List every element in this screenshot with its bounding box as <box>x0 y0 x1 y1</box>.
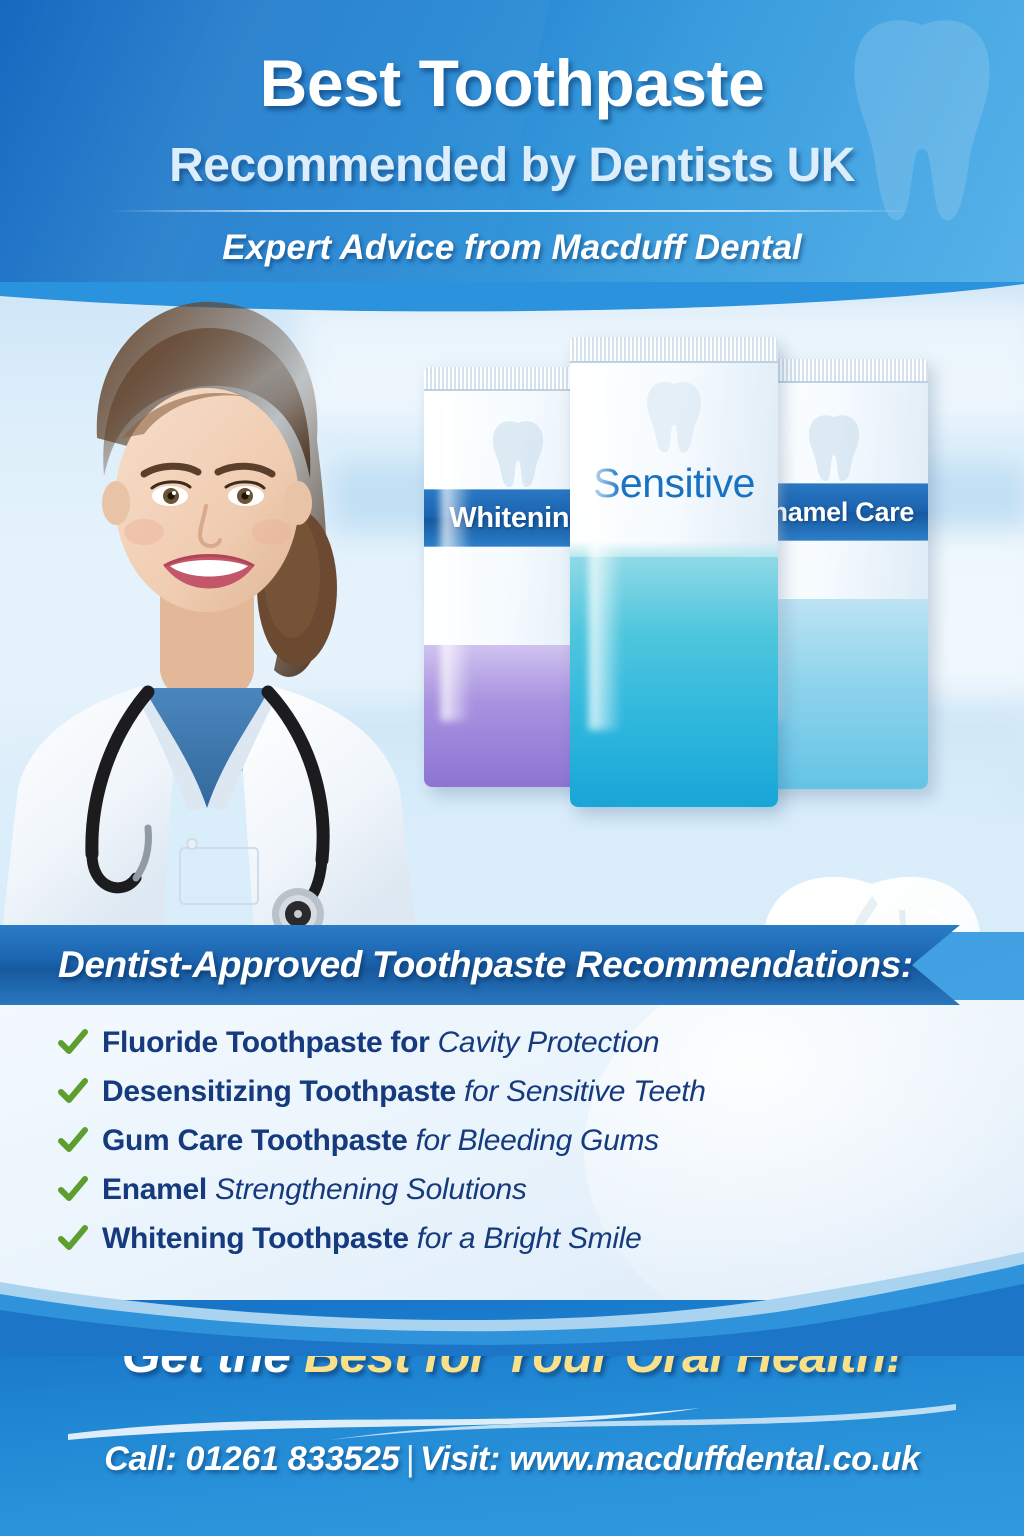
check-icon <box>58 1029 102 1057</box>
recommendations-banner: Dentist-Approved Toothpaste Recommendati… <box>0 925 960 1005</box>
tube-tooth-icon <box>644 377 704 455</box>
recommendations-list: Fluoride Toothpaste for Cavity Protectio… <box>58 1018 958 1263</box>
footer-wave-divider <box>0 1238 1024 1356</box>
list-item-rest: for Sensitive Teeth <box>456 1075 706 1108</box>
contact-separator: | <box>399 1440 420 1478</box>
list-item-rest: for Bleeding Gums <box>407 1124 658 1157</box>
header-section: Best Toothpaste Recommended by Dentists … <box>0 0 1024 292</box>
list-item-bold: Enamel <box>102 1173 207 1206</box>
list-item-bold: Fluoride Toothpaste for <box>102 1026 430 1059</box>
tube-tooth-icon <box>490 417 546 489</box>
visit-label: Visit: <box>420 1440 509 1478</box>
check-icon <box>58 1078 102 1106</box>
page-subtitle: Recommended by Dentists UK <box>0 142 1024 190</box>
molar-tooth-graphic <box>752 870 992 932</box>
dentist-photo <box>0 288 422 932</box>
toothpaste-tube-sensitive: Sensitive <box>570 337 778 807</box>
list-item-text: Fluoride Toothpaste for Cavity Protectio… <box>102 1026 659 1060</box>
poster: Best Toothpaste Recommended by Dentists … <box>0 0 1024 1536</box>
check-icon <box>58 1176 102 1204</box>
tooth-watermark-icon <box>842 6 1002 236</box>
list-item-rest: Strengthening Solutions <box>207 1173 527 1206</box>
page-title: Best Toothpaste <box>0 50 1024 116</box>
list-item-text: Gum Care Toothpaste for Bleeding Gums <box>102 1124 659 1158</box>
list-item-rest: Cavity Protection <box>430 1026 660 1059</box>
call-label: Call: <box>104 1440 185 1478</box>
list-item-text: Desensitizing Toothpaste for Sensitive T… <box>102 1075 706 1109</box>
hero-section: Whitening Sensitive <box>0 282 1024 932</box>
header-divider <box>110 210 914 212</box>
list-item-bold: Desensitizing Toothpaste <box>102 1075 456 1108</box>
toothpaste-tubes-group: Whitening Sensitive <box>410 337 970 897</box>
page-tagline: Expert Advice from Macduff Dental <box>0 228 1024 268</box>
list-item-text: Enamel Strengthening Solutions <box>102 1173 527 1207</box>
list-item: Fluoride Toothpaste for Cavity Protectio… <box>58 1018 958 1067</box>
website-url[interactable]: www.macduffdental.co.uk <box>509 1440 920 1478</box>
list-item-bold: Gum Care Toothpaste <box>102 1124 407 1157</box>
phone-number[interactable]: 01261 833525 <box>186 1440 400 1478</box>
recommendations-banner-text: Dentist-Approved Toothpaste Recommendati… <box>58 944 913 986</box>
tube-tooth-icon <box>806 411 862 483</box>
tube-cap <box>570 337 778 363</box>
list-item: Enamel Strengthening Solutions <box>58 1165 958 1214</box>
list-item: Desensitizing Toothpaste for Sensitive T… <box>58 1067 958 1116</box>
contact-line: Call: 01261 833525|Visit: www.macduffden… <box>0 1440 1024 1479</box>
list-item: Gum Care Toothpaste for Bleeding Gums <box>58 1116 958 1165</box>
check-icon <box>58 1127 102 1155</box>
